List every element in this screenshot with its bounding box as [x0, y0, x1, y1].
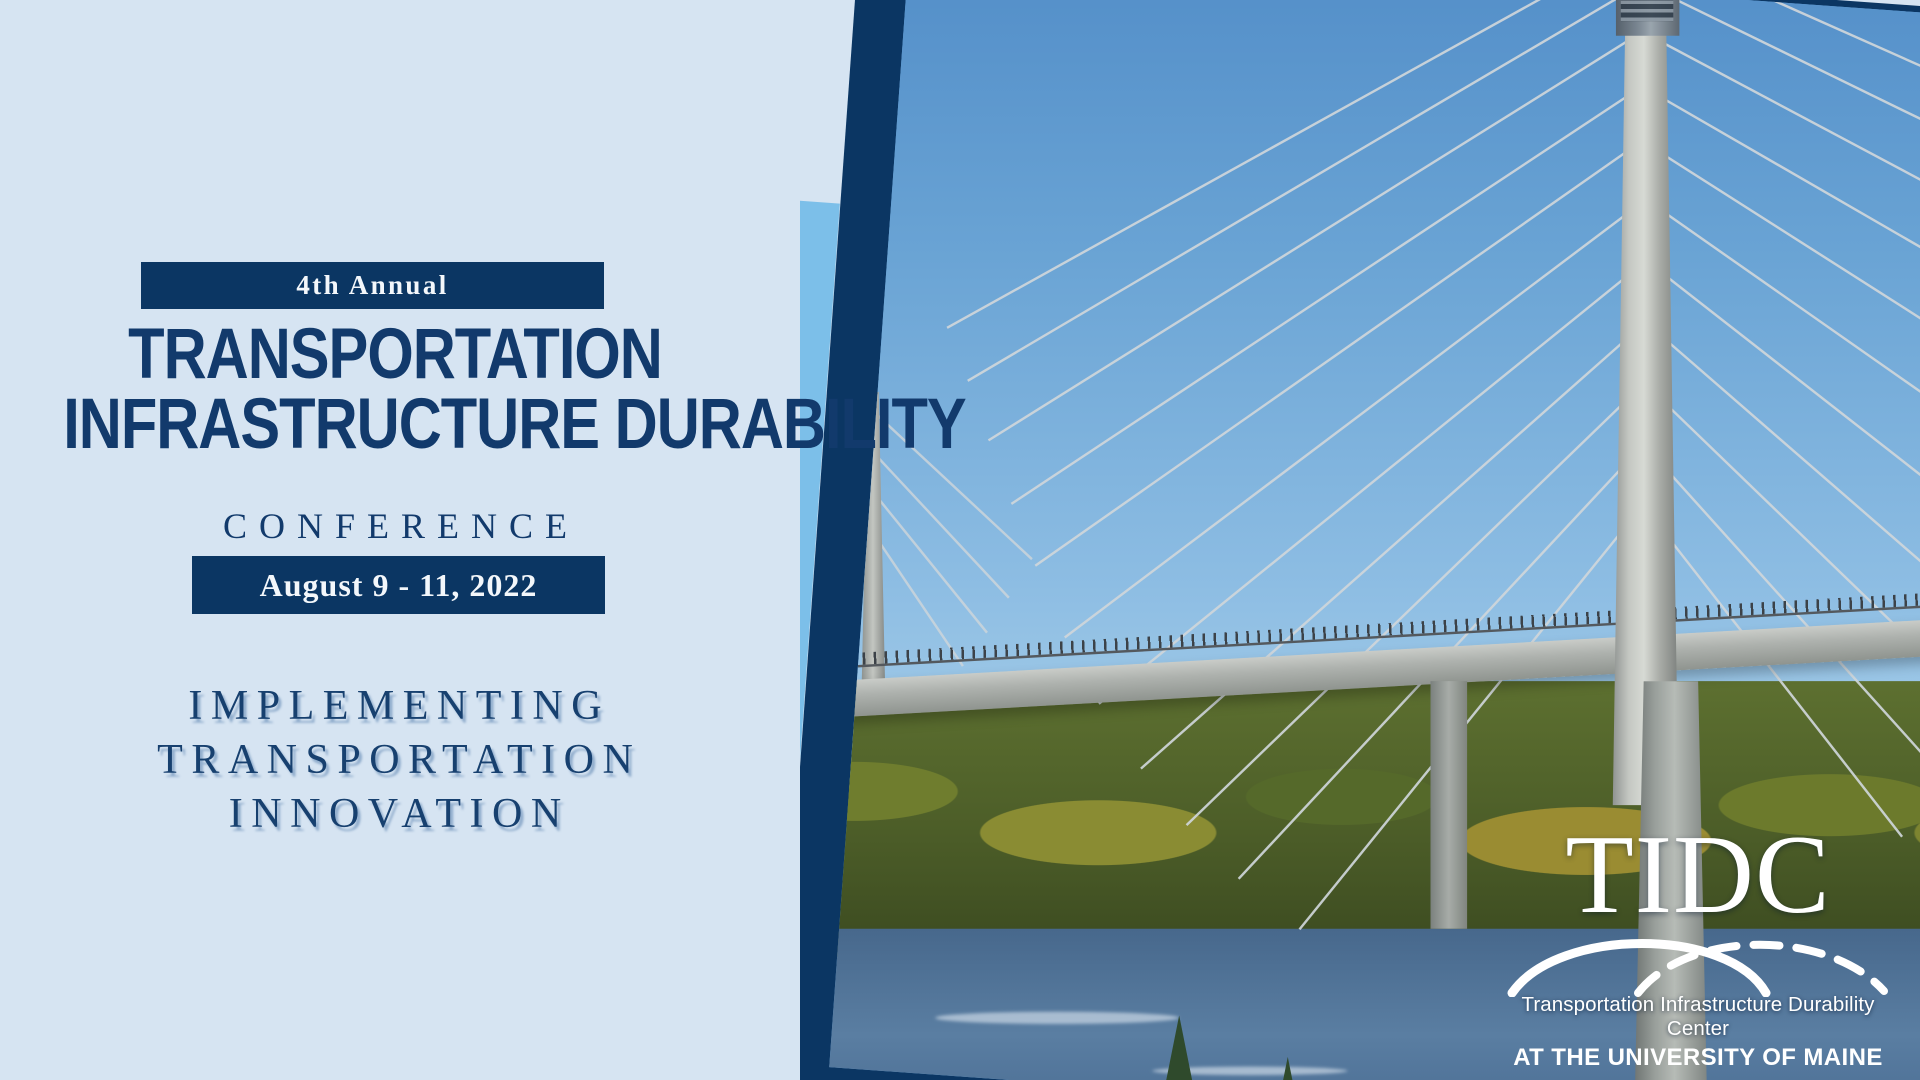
tidc-logo: TIDC Transportation Infrastructure Durab…: [1498, 824, 1898, 1072]
photo-composition: TIDC Transportation Infrastructure Durab…: [800, 0, 1920, 1080]
title-line-2: INFRASTRUCTURE DURABILITY: [63, 390, 727, 460]
tagline-line-1: IMPLEMENTING: [0, 680, 790, 734]
tidc-acronym: TIDC: [1498, 824, 1898, 927]
bridge-pier-far: [1430, 681, 1467, 929]
headline-column: 4th Annual TRANSPORTATION INFRASTRUCTURE…: [0, 0, 790, 1080]
eyebrow-banner: 4th Annual: [141, 262, 604, 309]
tidc-arch-icon: [1498, 921, 1898, 997]
page-title: TRANSPORTATION INFRASTRUCTURE DURABILITY: [63, 320, 727, 461]
conifer-tree: [1152, 1016, 1206, 1080]
conference-subtitle: CONFERENCE: [0, 505, 790, 547]
pylon-observatory: [1615, 0, 1678, 36]
tagline-line-3: INNOVATION: [0, 788, 790, 842]
title-line-1: TRANSPORTATION: [63, 320, 727, 390]
conference-tagline: IMPLEMENTING TRANSPORTATION INNOVATION: [0, 680, 790, 841]
conifer-tree: [1266, 1057, 1309, 1080]
tidc-affiliation: AT THE UNIVERSITY OF MAINE: [1498, 1044, 1898, 1072]
tagline-line-2: TRANSPORTATION: [0, 734, 790, 788]
tidc-full-name: Transportation Infrastructure Durability…: [1498, 993, 1898, 1041]
date-banner: August 9 - 11, 2022: [192, 556, 605, 614]
